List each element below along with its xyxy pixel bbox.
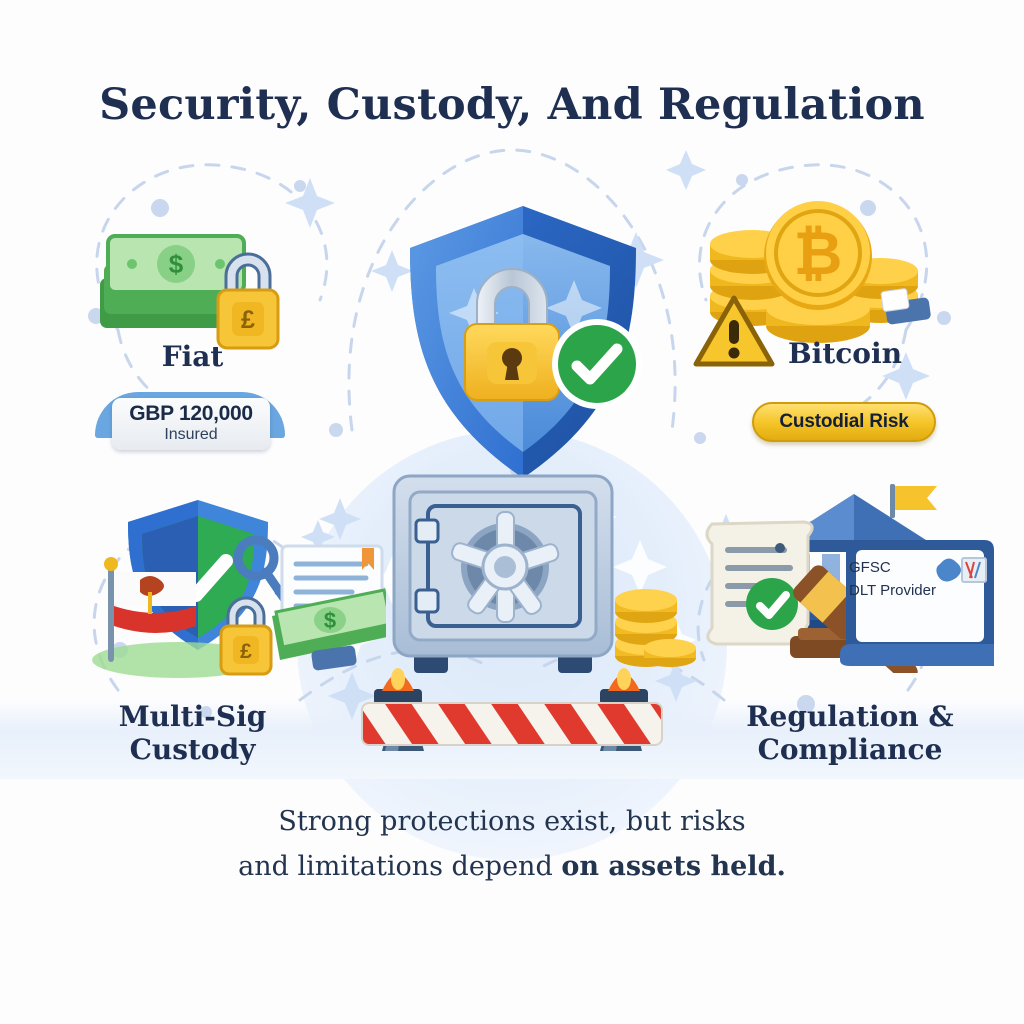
bitcoin-symbol: ₿ [794, 220, 843, 287]
insured-badge: GBP 120,000 Insured [95, 388, 285, 450]
footer-line-2: and limitations depend on assets held. [0, 845, 1024, 890]
banknotes-icon: $ £ [92, 222, 312, 357]
padlock-gbp-icon: £ [221, 598, 271, 674]
insured-sublabel: Insured [164, 425, 217, 445]
dollar-symbol: $ [169, 249, 184, 279]
laptop-line-2: DLT Provider [849, 579, 979, 602]
check-circle-icon [549, 316, 645, 412]
insured-badge-card: GBP 120,000 Insured [112, 398, 270, 450]
page-title: Security, Custody, And Regulation [0, 80, 1024, 130]
laptop-screen-text: GFSC DLT Provider [849, 556, 979, 603]
svg-text:$: $ [324, 608, 336, 633]
category-label-multisig: Multi-Sig Custody [60, 700, 325, 766]
multisig-label-line1: Multi-Sig [60, 700, 325, 733]
road-barrier-icon [352, 655, 672, 780]
footer-line-2-normal: and limitations depend [238, 851, 561, 882]
insured-amount: GBP 120,000 [129, 403, 253, 425]
category-label-fiat: Fiat [85, 340, 300, 373]
category-label-regulation: Regulation & Compliance [705, 700, 995, 766]
regulation-label-line1: Regulation & [705, 700, 995, 733]
infographic-canvas: $ £ Fiat GBP 120,000 Insured [0, 0, 1024, 1024]
scroll-check-icon [707, 522, 812, 644]
laptop-line-1: GFSC [849, 556, 979, 579]
footer-caption: Strong protections exist, but risks and … [0, 800, 1024, 889]
multisig-label-line2: Custody [60, 733, 325, 766]
pound-symbol: £ [241, 306, 255, 334]
svg-text:£: £ [240, 640, 252, 663]
footer-line-2-bold: on assets held. [561, 851, 786, 882]
custodial-risk-badge: Custodial Risk [752, 402, 936, 442]
regulation-label-line2: Compliance [705, 733, 995, 766]
category-label-bitcoin: Bitcoin [735, 337, 955, 370]
safe-vault-icon [388, 470, 618, 685]
multisig-icon-group: $ £ [86, 492, 386, 682]
footer-line-1: Strong protections exist, but risks [0, 800, 1024, 845]
